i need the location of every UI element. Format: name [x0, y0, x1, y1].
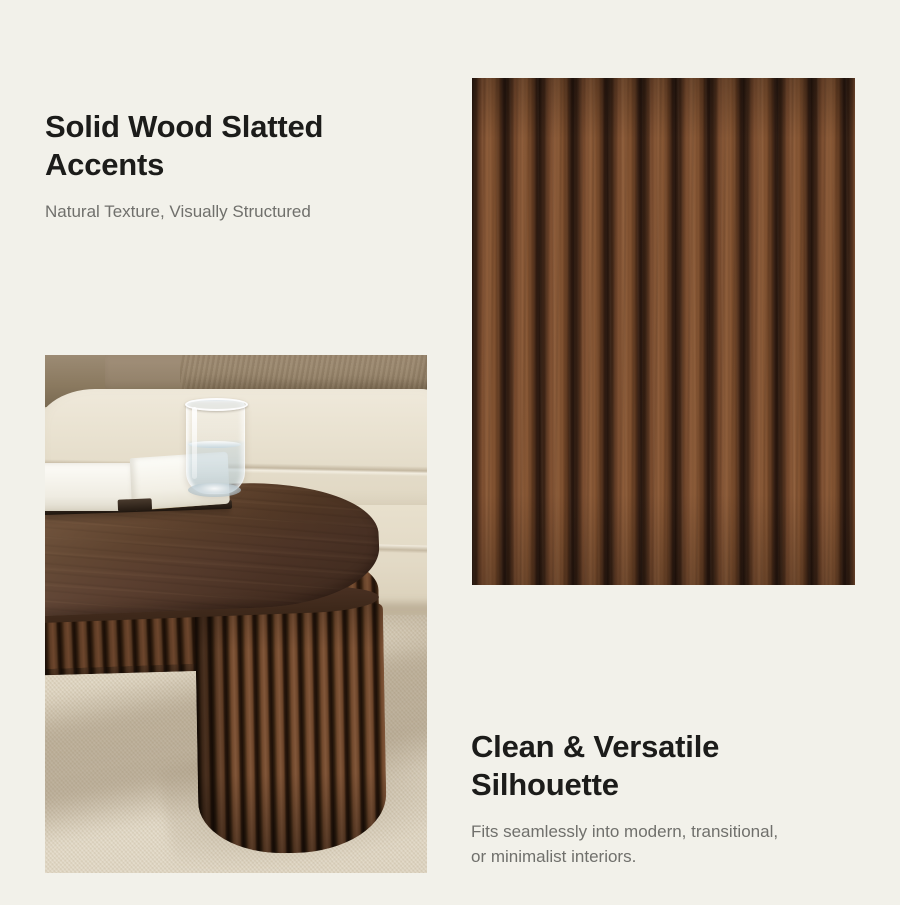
- feature-block-bottom: Clean & Versatile Silhouette Fits seamle…: [471, 728, 871, 869]
- feature-block-top: Solid Wood Slatted Accents Natural Textu…: [45, 108, 445, 224]
- water-glass-base: [188, 483, 241, 497]
- table-pedestal-base: [195, 603, 387, 854]
- wood-slat-panel-image: [472, 78, 855, 585]
- feature-subhead-bottom: Fits seamlessly into modern, transitiona…: [471, 819, 871, 869]
- coffee-table-room-image: [45, 355, 427, 873]
- book-spine: [118, 498, 152, 511]
- pedestal-left-shadow: [195, 606, 233, 855]
- wood-vertical-shading: [472, 78, 855, 585]
- marketing-page: Solid Wood Slatted Accents Natural Textu…: [0, 0, 900, 905]
- feature-headline-bottom: Clean & Versatile Silhouette: [471, 728, 871, 804]
- feature-headline-top: Solid Wood Slatted Accents: [45, 108, 445, 184]
- feature-subhead-top: Natural Texture, Visually Structured: [45, 199, 445, 224]
- water-glass-highlight: [192, 407, 197, 479]
